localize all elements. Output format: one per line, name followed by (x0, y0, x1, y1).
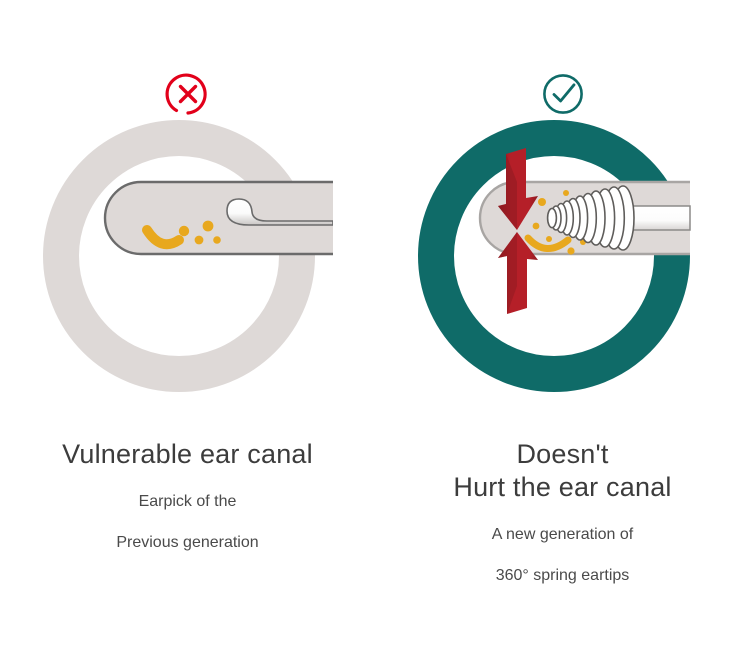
subline-previous-generation-line2: Previous generation (0, 532, 375, 553)
comparison-board: Vulnerable ear canal Earpick of the Prev… (0, 0, 750, 649)
status-badge-accept (537, 68, 589, 120)
ring-gray (61, 138, 297, 374)
circle-check-icon (537, 68, 589, 120)
panel-new-generation: Doesn't Hurt the ear canal A new generat… (375, 0, 750, 649)
subline-new-generation-line1: A new generation of (375, 524, 750, 545)
circle-x-icon (162, 68, 214, 120)
headline-previous-generation: Vulnerable ear canal (0, 438, 375, 471)
panel-previous-generation: Vulnerable ear canal Earpick of the Prev… (0, 0, 375, 649)
ring-teal (436, 138, 672, 374)
illustration-new-generation (418, 120, 708, 392)
caption-new-generation: Doesn't Hurt the ear canal A new generat… (375, 438, 750, 586)
caption-previous-generation: Vulnerable ear canal Earpick of the Prev… (0, 438, 375, 553)
subline-new-generation-line2: 360° spring eartips (375, 565, 750, 586)
subline-previous-generation-line1: Earpick of the (0, 491, 375, 512)
status-badge-reject (162, 68, 214, 120)
headline-new-generation-line2: Hurt the ear canal (375, 471, 750, 504)
illustration-previous-generation (43, 120, 333, 392)
headline-new-generation-line1: Doesn't (375, 438, 750, 471)
